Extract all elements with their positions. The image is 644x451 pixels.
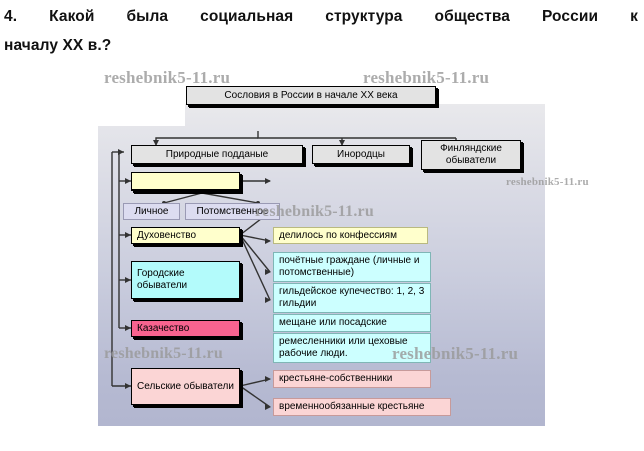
box-natural-subjects-text: Природные подданые [132,149,302,161]
box-inorodtsy: Инородцы [312,145,410,164]
question-word: Какой [49,2,94,31]
detail-guild-merchants: гильдейское купечество: 1, 2, 3 гильдии [273,283,431,313]
box-inorodtsy-text: Инородцы [313,149,409,161]
watermark: reshebnik5-11.ru [104,68,230,88]
diagram-title-text: Сословия в России в начале XX века [187,90,435,102]
box-natural-subjects: Природные подданые [131,145,303,164]
box-townsfolk: Городские обыватели [131,261,240,299]
detail-artisans: ремесленники или цеховые рабочие люди. [273,333,431,363]
detail-meshchane: мещане или посадские [273,314,431,332]
question-word: структура [325,2,402,31]
question-heading: 4.КакойбыласоциальнаяструктураобществаРо… [4,2,640,60]
box-rural: Сельские обыватели [131,368,240,405]
question-word: 4. [4,2,17,31]
detail-temporarily-obligated: временнообязанные крестьяне [273,398,451,416]
box-finnish-inhabitants-text: Финляндские обыватели [422,143,520,167]
question-word: была [126,2,168,31]
watermark: reshebnik5-11.ru [363,68,489,88]
diagram-title-box: Сословия в России в начале XX века [186,86,436,105]
box-nobility-personal: Личное [123,203,180,220]
detail-artisans-text: ремесленники или цеховые рабочие люди. [279,336,427,360]
box-cossacks-text: Казачество [137,323,236,335]
detail-peasant-owners-text: крестьяне-собственники [279,373,427,385]
detail-honorary-citizens-text: почётные граждане (личные и потомственны… [279,255,427,279]
box-finnish-inhabitants: Финляндские обыватели [421,140,521,170]
detail-meshchane-text: мещане или посадские [279,317,427,329]
box-nobility-personal-text: Личное [124,206,179,218]
question-line-2: началу XX в.? [4,31,640,60]
question-word: России [542,2,598,31]
box-townsfolk-text: Городские обыватели [137,268,236,292]
question-word: к [630,2,638,31]
question-word: социальная [200,2,293,31]
social-structure-diagram: Сословия в России в начале XX века Приро… [98,104,545,426]
box-nobility-hereditary: Потомственное [185,203,280,220]
box-clergy: Духовенство [131,227,240,244]
question-line-1: 4.КакойбыласоциальнаяструктураобществаРо… [4,2,638,31]
detail-guild-merchants-text: гильдейское купечество: 1, 2, 3 гильдии [279,286,427,310]
detail-clergy-confessions: делилось по конфессиям [273,227,428,244]
box-cossacks: Казачество [131,320,240,337]
detail-temporarily-obligated-text: временнообязанные крестьяне [279,401,447,413]
box-nobility-hereditary-text: Потомственное [186,206,279,218]
detail-peasant-owners: крестьяне-собственники [273,370,431,388]
detail-honorary-citizens: почётные граждане (личные и потомственны… [273,252,431,282]
box-clergy-placeholder [131,172,240,190]
box-clergy-text: Духовенство [137,230,236,242]
detail-clergy-confessions-text: делилось по конфессиям [279,230,424,242]
question-word: общества [435,2,511,31]
box-rural-text: Сельские обыватели [137,381,236,393]
